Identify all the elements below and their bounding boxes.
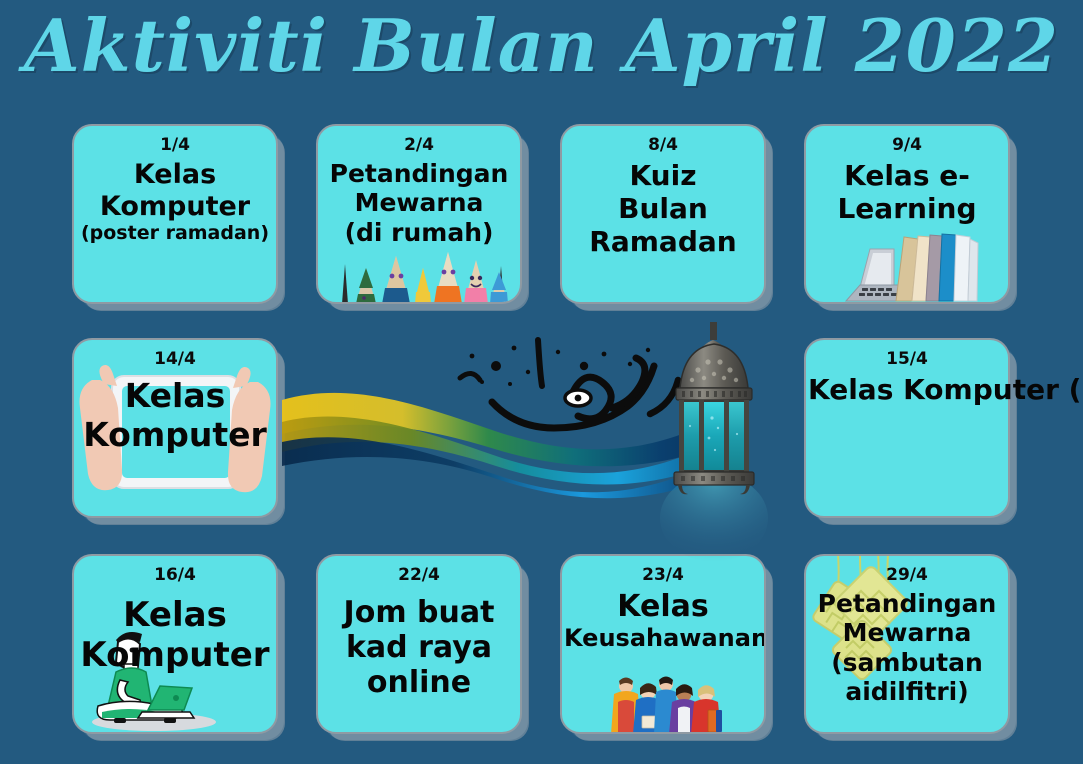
activity-card-8[interactable]: 22/4 Jom buat kad raya online [316, 554, 522, 734]
card-date: 9/4 [806, 136, 1008, 155]
colored-pencils-icon [322, 242, 520, 304]
card-date: 8/4 [562, 136, 764, 155]
activity-card-1[interactable]: 1/4 Kelas Komputer (poster ramadan) [72, 124, 278, 304]
card-title: Kelas Komputer [74, 595, 276, 675]
card-title: Kelas Komputer [74, 377, 276, 455]
ramadan-decoration [282, 322, 812, 562]
activity-card-7[interactable]: 16/4 Kelas Komputer [72, 554, 278, 734]
card-title: Petandingan Mewarna (sambutan aidilfitri… [806, 589, 1008, 707]
card-title: Kelas e- Learning [806, 159, 1008, 225]
card-title: Kelas Komputer [74, 159, 276, 223]
activity-card-4[interactable]: 9/4 Kelas e- Learning [804, 124, 1010, 304]
card-date: 23/4 [562, 566, 764, 585]
activity-card-6[interactable]: 15/4 Kelas Komputer (kenal excell [804, 338, 1010, 518]
activity-calendar-poster: Aktiviti Bulan April 2022 1/4 Kelas Komp… [0, 0, 1083, 764]
card-title: Jom buat kad raya online [318, 595, 520, 701]
activity-card-10[interactable]: 29/4 Petandingan Mewarna (sambutan aidil… [804, 554, 1010, 734]
activity-card-3[interactable]: 8/4 Kuiz Bulan Ramadan [560, 124, 766, 304]
card-title: Kelas Komputer (kenal excell [806, 373, 1008, 406]
page-title: Aktiviti Bulan April 2022 [0, 8, 1083, 84]
card-title: Petandingan Mewarna (di rumah) [318, 159, 520, 248]
activity-card-5[interactable]: 14/4 Kelas Komputer [72, 338, 278, 518]
lantern-icon [674, 322, 754, 494]
card-subtitle: Keusahawanan [562, 624, 764, 652]
card-date: 16/4 [74, 566, 276, 585]
card-date: 1/4 [74, 136, 276, 155]
card-title: Kuiz Bulan Ramadan [562, 159, 764, 258]
activity-card-2[interactable]: 2/4 Petandingan Mewarna (di rumah) [316, 124, 522, 304]
laptop-and-books-icon [844, 223, 1010, 303]
card-date: 29/4 [806, 566, 1008, 585]
arabic-calligraphy-ramadan [460, 340, 678, 428]
card-title: Kelas [562, 589, 764, 624]
card-date: 14/4 [74, 350, 276, 369]
students-photo [604, 672, 734, 734]
card-subtitle: (poster ramadan) [74, 222, 276, 244]
card-date: 15/4 [806, 350, 1008, 369]
activity-card-9[interactable]: 23/4 Kelas Keusahawanan [560, 554, 766, 734]
card-date: 2/4 [318, 136, 520, 155]
card-date: 22/4 [318, 566, 520, 585]
